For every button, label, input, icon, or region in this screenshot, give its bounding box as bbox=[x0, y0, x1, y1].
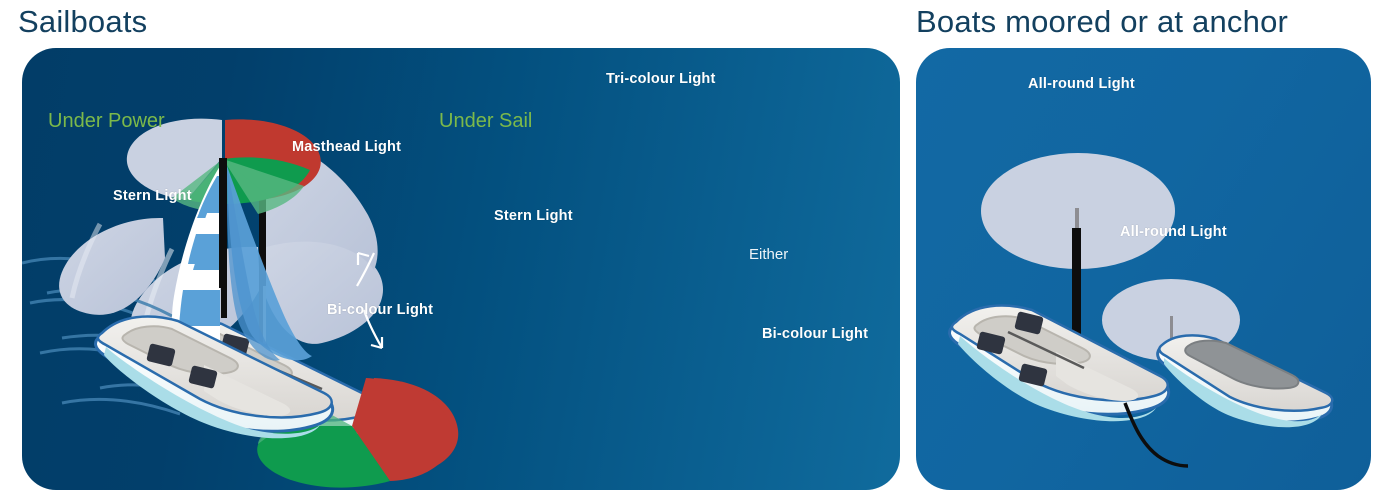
panel-moored: All-round Light All-round Light bbox=[916, 48, 1371, 490]
label-all-round-light-small: All-round Light bbox=[1120, 224, 1227, 240]
label-stern-light-power: Stern Light bbox=[113, 188, 192, 204]
label-tricolour-light: Tri-colour Light bbox=[606, 71, 716, 87]
diagram-root: Sailboats Boats moored or at anchor bbox=[0, 0, 1387, 497]
label-all-round-light-large: All-round Light bbox=[1028, 76, 1135, 92]
panel-sailboats: Under Power Under Sail Masthead Light St… bbox=[22, 48, 900, 490]
label-stern-light-sail: Stern Light bbox=[494, 208, 573, 224]
label-either: Either bbox=[749, 246, 788, 263]
page-title-moored: Boats moored or at anchor bbox=[916, 4, 1288, 40]
label-bicolour-light-power: Bi-colour Light bbox=[327, 302, 433, 318]
mast-sail-upper bbox=[219, 158, 227, 288]
section-label-under-sail: Under Sail bbox=[439, 110, 532, 133]
label-bicolour-light-sail: Bi-colour Light bbox=[762, 326, 868, 342]
mainsail-stripe-3 bbox=[179, 290, 220, 326]
page-title-sailboats: Sailboats bbox=[18, 4, 147, 40]
moored-illustration bbox=[916, 48, 1371, 490]
label-masthead-light: Masthead Light bbox=[292, 139, 401, 155]
section-label-under-power: Under Power bbox=[48, 110, 165, 133]
hull-moored-motor bbox=[1158, 335, 1333, 427]
mast-sail-lower bbox=[221, 288, 227, 318]
